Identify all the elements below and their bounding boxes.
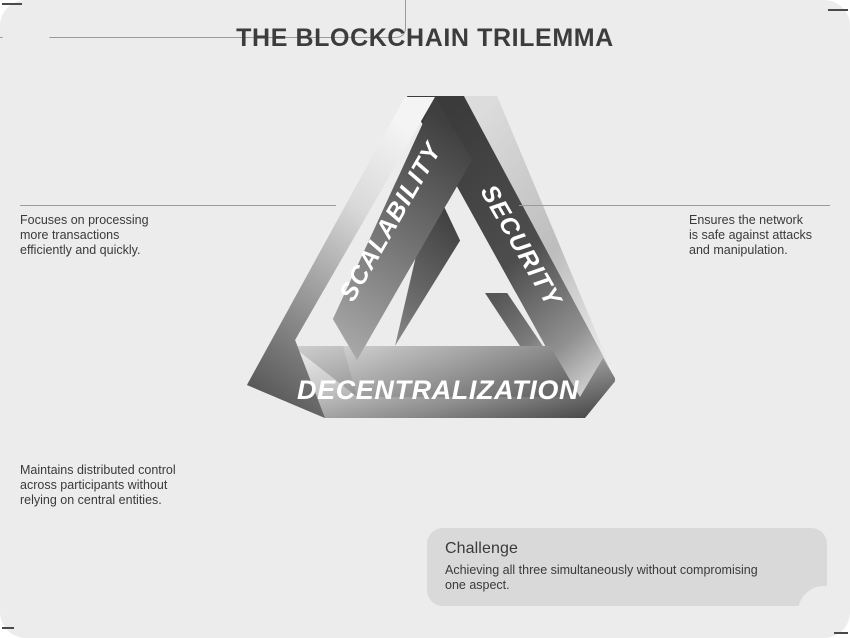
corner-tick-top-right xyxy=(828,9,848,11)
callout-decentralization-line-2: across participants without xyxy=(20,478,250,493)
callout-decentralization-line-3: relying on central entities. xyxy=(20,493,250,508)
corner-tick-bottom-right xyxy=(834,632,848,634)
challenge-body-line-2: one aspect. xyxy=(445,578,809,593)
penrose-triangle-diagram: SCALABILITY SECURITY DECENTRALIZATION xyxy=(235,88,615,423)
corner-tick-bottom-left xyxy=(2,627,14,629)
callout-security-line-3: and manipulation. xyxy=(689,243,839,258)
page-title: THE BLOCKCHAIN TRILEMMA xyxy=(0,24,850,53)
callout-decentralization: Maintains distributed control across par… xyxy=(20,463,250,507)
callout-scalability: Focuses on processing more transactions … xyxy=(20,213,200,257)
corner-mask-bottom-right xyxy=(824,612,850,638)
callout-security: Ensures the network is safe against atta… xyxy=(689,213,839,257)
corner-mask-top-right xyxy=(824,0,850,26)
connector-line-scalability xyxy=(20,205,336,206)
callout-decentralization-line-1: Maintains distributed control xyxy=(20,463,250,478)
label-decentralization: DECENTRALIZATION xyxy=(297,375,579,405)
challenge-body: Achieving all three simultaneously witho… xyxy=(445,563,809,593)
callout-scalability-line-2: more transactions xyxy=(20,228,200,243)
challenge-title: Challenge xyxy=(445,540,809,558)
challenge-card: Challenge Achieving all three simultaneo… xyxy=(427,528,827,606)
challenge-body-line-1: Achieving all three simultaneously witho… xyxy=(445,563,809,578)
callout-scalability-line-1: Focuses on processing xyxy=(20,213,200,228)
infographic-canvas: THE BLOCKCHAIN TRILEMMA xyxy=(0,0,850,638)
callout-security-line-2: is safe against attacks xyxy=(689,228,839,243)
connector-line-security xyxy=(519,205,830,206)
callout-scalability-line-3: efficiently and quickly. xyxy=(20,243,200,258)
callout-security-line-1: Ensures the network xyxy=(689,213,839,228)
corner-mask-bottom-left xyxy=(0,612,26,638)
